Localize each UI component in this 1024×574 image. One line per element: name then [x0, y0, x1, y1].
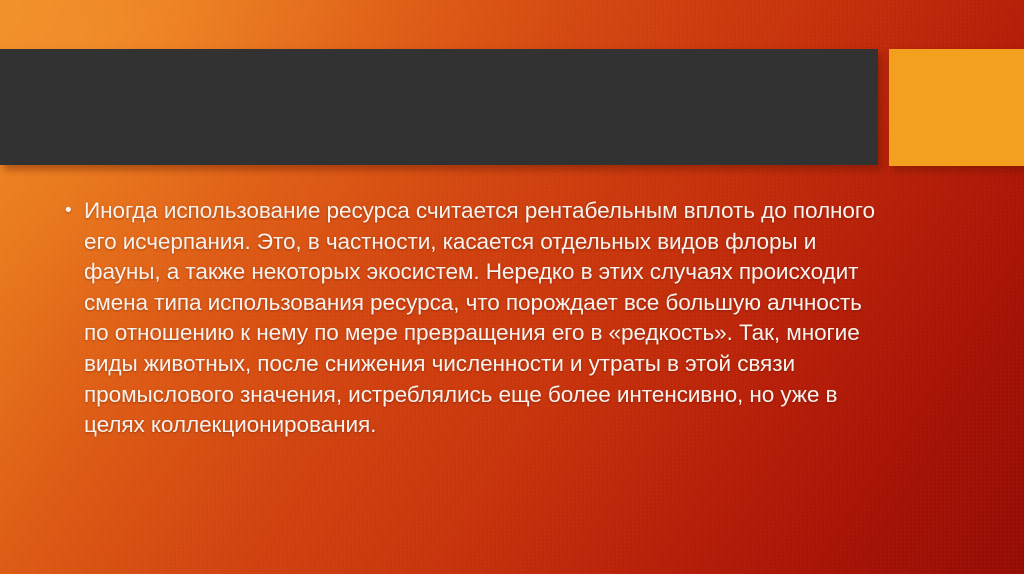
bullet-icon: • [65, 196, 72, 227]
body-paragraph: Иногда использование ресурса считается р… [84, 196, 890, 441]
list-item: • Иногда использование ресурса считается… [60, 196, 890, 441]
slide-canvas: • Иногда использование ресурса считается… [0, 0, 1024, 574]
yellow-accent-block [889, 49, 1024, 166]
title-banner [0, 49, 878, 165]
body-bullet-list: • Иногда использование ресурса считается… [60, 196, 890, 441]
